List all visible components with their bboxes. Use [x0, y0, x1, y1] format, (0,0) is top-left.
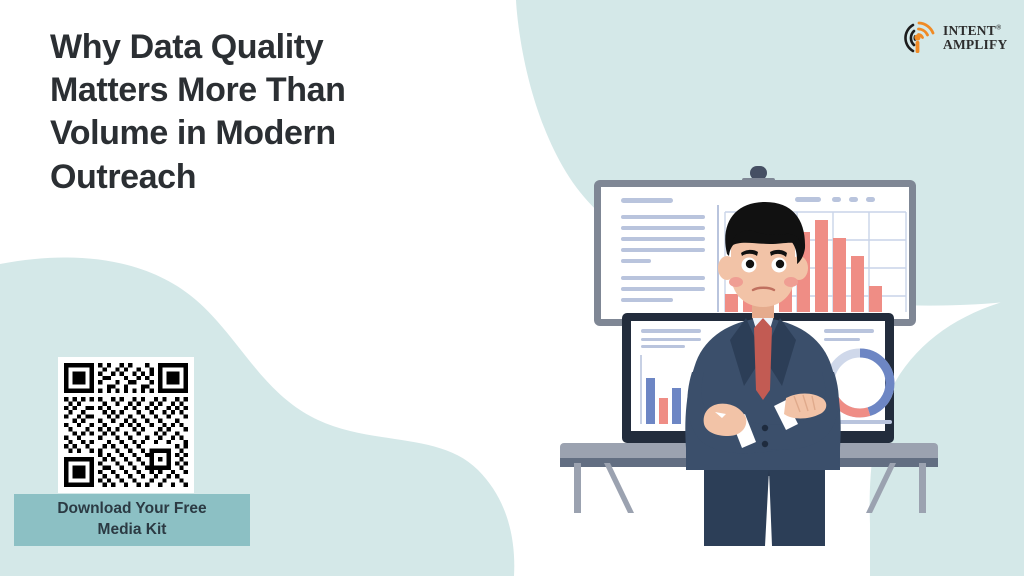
signal-waves-icon: [898, 18, 938, 58]
person-cheek-left: [729, 277, 743, 287]
logo-line-1: INTENT®: [943, 24, 1007, 38]
cta-line-1: Download Your Free: [57, 499, 206, 520]
cta-line-2: Media Kit: [98, 520, 167, 541]
suit-button-top: [762, 425, 768, 431]
slide-canvas: Why Data Quality Matters More Than Volum…: [0, 0, 1024, 576]
download-media-kit-button[interactable]: Download Your Free Media Kit: [14, 494, 250, 546]
person-pupil-right: [776, 260, 784, 268]
person-necktie: [754, 318, 772, 400]
registered-mark: ®: [996, 24, 1001, 32]
intent-amplify-logo[interactable]: INTENT® AMPLIFY: [898, 16, 1010, 60]
person-pupil-left: [746, 260, 754, 268]
logo-line-2: AMPLIFY: [943, 38, 1007, 52]
logo-wordmark: INTENT® AMPLIFY: [943, 24, 1007, 52]
signal-stem: [916, 41, 920, 53]
person-cheek-right: [784, 277, 798, 287]
suit-button-bottom: [762, 441, 768, 447]
signal-dot: [914, 34, 920, 40]
qr-code[interactable]: [58, 357, 194, 493]
qr-code-image: [64, 363, 188, 487]
